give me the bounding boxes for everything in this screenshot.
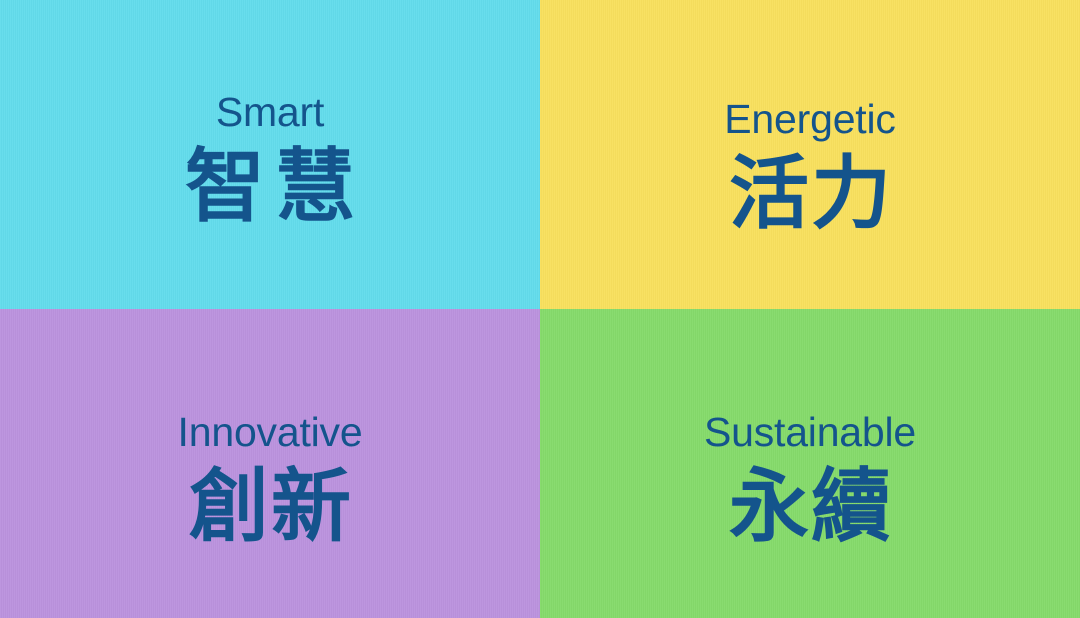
quadrant-sustainable-label-en: Sustainable — [704, 412, 916, 453]
quadrant-smart-label-zh: 智慧 — [175, 147, 365, 227]
quadrant-energetic-label-en: Energetic — [724, 99, 895, 140]
quadrant-sustainable-label-zh: 永續 — [727, 467, 893, 547]
quadrant-smart-content: Smart 智慧 — [0, 0, 540, 227]
quadrant-sustainable[interactable]: Sustainable 永續 — [540, 309, 1080, 618]
quadrant-sustainable-content: Sustainable 永續 — [540, 309, 1080, 547]
quadrant-innovative-label-zh: 創新 — [187, 467, 353, 547]
brand-values-poster: Smart 智慧 Energetic 活力 Innovative 創新 Sust… — [0, 0, 1080, 618]
quadrant-innovative-label-en: Innovative — [178, 412, 363, 453]
quadrant-energetic[interactable]: Energetic 活力 — [540, 0, 1080, 309]
quadrant-smart-label-en: Smart — [216, 92, 324, 133]
quadrant-innovative[interactable]: Innovative 創新 — [0, 309, 540, 618]
quadrant-energetic-content: Energetic 活力 — [540, 0, 1080, 234]
values-grid: Smart 智慧 Energetic 活力 Innovative 創新 Sust… — [0, 0, 1080, 618]
quadrant-energetic-label-zh: 活力 — [727, 154, 893, 234]
quadrant-smart[interactable]: Smart 智慧 — [0, 0, 540, 309]
quadrant-innovative-content: Innovative 創新 — [0, 309, 540, 547]
